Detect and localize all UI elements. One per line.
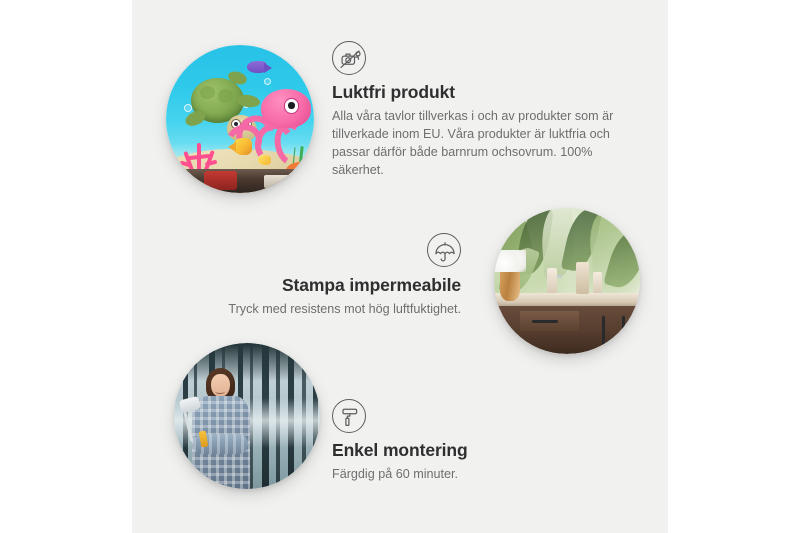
umbrella-icon xyxy=(427,233,461,267)
feature-waterproof-icon-wrap xyxy=(194,233,461,275)
feature-odour-free: Luktfri produkt Alla våra tavlor tillver… xyxy=(332,41,624,179)
forest-medallion xyxy=(174,343,320,489)
bathroom-medallion xyxy=(494,208,640,354)
feature-odour-body: Alla våra tavlor tillverkas i och av pro… xyxy=(332,108,624,180)
yellow-fish-icon xyxy=(258,155,271,165)
feature-mounting-body: Färgdig på 60 minuter. xyxy=(332,466,602,484)
ocean-medallion xyxy=(166,45,314,193)
feature-mounting-heading: Enkel montering xyxy=(332,440,602,462)
bathroom-bottle xyxy=(576,262,589,294)
feature-easy-mounting: Enkel montering Färgdig på 60 minuter. xyxy=(332,399,602,484)
product-feature-graphic: Luktfri produkt Alla våra tavlor tillver… xyxy=(0,0,800,533)
forest-artwork xyxy=(174,343,320,489)
feature-waterproof: Stampa impermeabile Tryck med resistens … xyxy=(194,233,461,319)
paint-roller-icon xyxy=(332,399,366,433)
purple-fish-icon xyxy=(247,61,266,73)
room-foreground-strip xyxy=(166,169,314,193)
drawer-handle xyxy=(532,320,558,323)
bubble-icon xyxy=(184,104,192,112)
feature-odour-icon-wrap xyxy=(332,41,624,75)
cabinet-handle xyxy=(602,316,605,345)
bathroom-bottle xyxy=(593,272,602,292)
bathroom-bottle xyxy=(547,268,557,293)
bathroom-artwork xyxy=(494,208,640,354)
feature-mounting-icon-wrap xyxy=(332,399,602,433)
woman-smile xyxy=(215,388,225,393)
white-flowers xyxy=(495,250,526,272)
ocean-artwork xyxy=(166,45,314,193)
no-odour-icon xyxy=(332,41,366,75)
bubble-icon xyxy=(264,78,271,85)
feature-waterproof-body: Tryck med resistens mot hög luftfuktighe… xyxy=(194,301,461,319)
yellow-fish-icon xyxy=(233,138,252,154)
octopus-eye xyxy=(284,98,299,113)
feature-waterproof-heading: Stampa impermeabile xyxy=(194,275,461,297)
feature-panel: Luktfri produkt Alla våra tavlor tillver… xyxy=(132,0,668,533)
feature-odour-heading: Luktfri produkt xyxy=(332,82,624,104)
